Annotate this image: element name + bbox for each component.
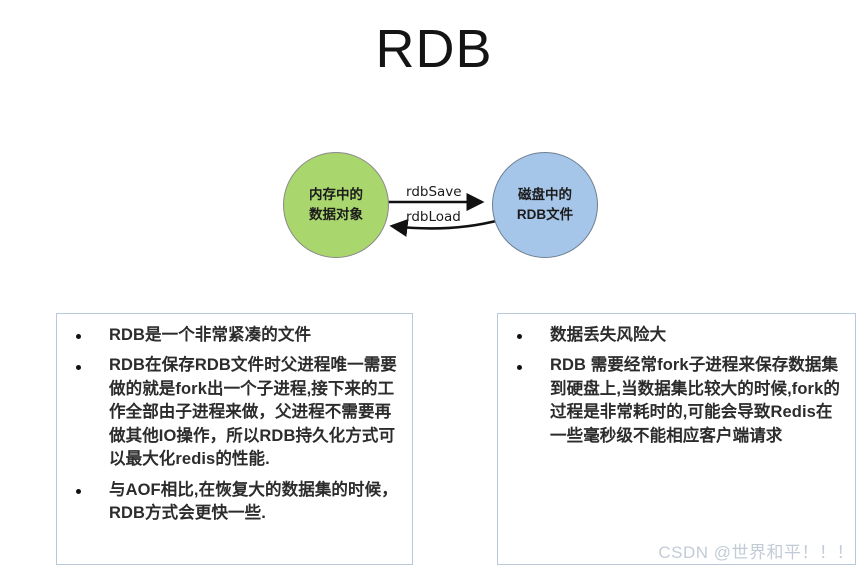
node-disk-line2: RDB文件 (517, 205, 573, 225)
list-item: 数据丢失风险大 (506, 324, 847, 347)
list-item-text: 与AOF相比,在恢复大的数据集的时候，RDB方式会更快一些. (109, 481, 398, 522)
list-item: RDB 需要经常fork子进程来保存数据集到硬盘上,当数据集比较大的时候,for… (506, 354, 847, 448)
bullet-dot-icon (517, 334, 522, 339)
edge-label-rdbsave: rdbSave (406, 184, 462, 200)
disadvantages-list: 数据丢失风险大 RDB 需要经常fork子进程来保存数据集到硬盘上,当数据集比较… (506, 324, 847, 448)
bullet-dot-icon (517, 365, 522, 370)
list-item: RDB在保存RDB文件时父进程唯一需要做的就是fork出一个子进程,接下来的工作… (65, 354, 404, 471)
bullet-dot-icon (76, 489, 81, 494)
list-item-text: RDB在保存RDB文件时父进程唯一需要做的就是fork出一个子进程,接下来的工作… (109, 356, 397, 468)
list-item-text: RDB 需要经常fork子进程来保存数据集到硬盘上,当数据集比较大的时候,for… (550, 356, 840, 444)
rdb-flow-diagram: 内存中的 数据对象 磁盘中的 RDB文件 rdbSave rdbLoad (0, 130, 868, 290)
advantages-list: RDB是一个非常紧凑的文件 RDB在保存RDB文件时父进程唯一需要做的就是for… (65, 324, 404, 525)
node-memory-line1: 内存中的 (309, 185, 363, 205)
list-item-text: 数据丢失风险大 (550, 326, 666, 344)
disadvantages-box: 数据丢失风险大 RDB 需要经常fork子进程来保存数据集到硬盘上,当数据集比较… (497, 313, 856, 565)
node-disk-file: 磁盘中的 RDB文件 (492, 152, 598, 258)
csdn-watermark: CSDN @世界和平！！！ (658, 538, 854, 563)
edge-label-rdbload: rdbLoad (406, 209, 461, 225)
advantages-box: RDB是一个非常紧凑的文件 RDB在保存RDB文件时父进程唯一需要做的就是for… (56, 313, 413, 565)
page-title: RDB (0, 20, 868, 79)
list-item: 与AOF相比,在恢复大的数据集的时候，RDB方式会更快一些. (65, 479, 404, 526)
node-disk-line1: 磁盘中的 (518, 185, 572, 205)
bullet-dot-icon (76, 334, 81, 339)
list-item: RDB是一个非常紧凑的文件 (65, 324, 404, 347)
bullet-dot-icon (76, 365, 81, 370)
node-memory-line2: 数据对象 (309, 205, 363, 225)
list-item-text: RDB是一个非常紧凑的文件 (109, 326, 311, 344)
node-memory-object: 内存中的 数据对象 (283, 152, 389, 258)
